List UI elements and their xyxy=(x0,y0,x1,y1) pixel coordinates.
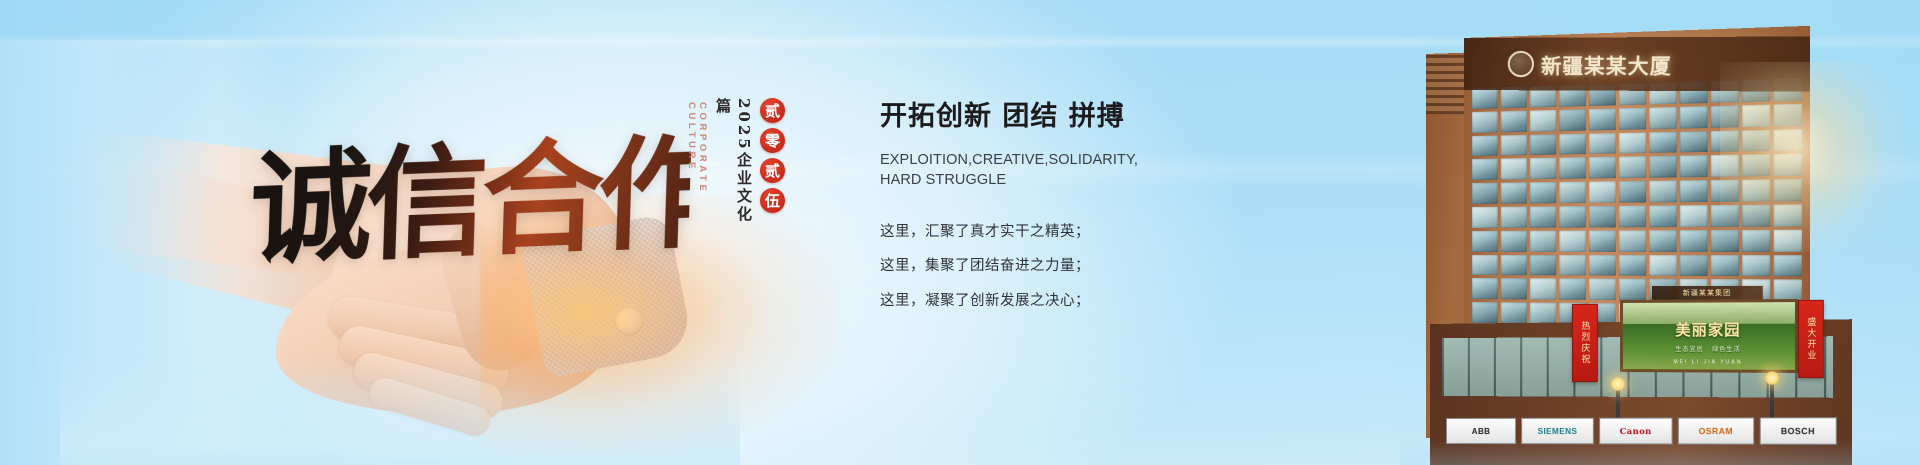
tower-crown-sign: 新疆某某大厦 xyxy=(1464,36,1810,91)
finger-middle xyxy=(336,323,513,398)
body-line: 这里，汇聚了真才实干之精英； xyxy=(880,225,1180,240)
body-line: 这里，凝聚了创新发展之决心； xyxy=(880,294,1180,309)
red-banner-left: 热烈庆祝 xyxy=(1572,304,1598,382)
body-line: 这里，集聚了团结奋进之力量； xyxy=(880,259,1180,274)
corporate-culture-banner: 诚信合作 贰 零 贰 伍 2025企业文化篇 CORPORATE CULTURE… xyxy=(0,0,1920,465)
company-logo-icon xyxy=(1508,51,1534,77)
body-lines: 这里，汇聚了真才实干之精英； 这里，集聚了团结奋进之力量； 这里，凝聚了创新发展… xyxy=(880,225,1180,309)
finger-ring xyxy=(350,349,506,423)
seal-digit-4: 伍 xyxy=(760,188,785,213)
podium-top-sign: 新疆某某集团 xyxy=(1652,286,1763,300)
year-seal-stack: 贰 零 贰 伍 xyxy=(760,96,785,213)
headline-chinese: 开拓创新 团结 拼搏 xyxy=(880,102,1180,132)
shop-sign: ABB xyxy=(1446,418,1516,444)
red-banner-right: 盛大开业 xyxy=(1798,300,1824,378)
shop-sign: Canon xyxy=(1599,418,1673,445)
vertical-label-english: CORPORATE CULTURE xyxy=(686,102,708,258)
podium-top-sign-text: 新疆某某集团 xyxy=(1683,288,1731,298)
billboard-subtitle: 生态宜居 · 绿色生活 xyxy=(1675,344,1740,353)
billboard-caption: MEI LI JIA YUAN xyxy=(1673,359,1742,365)
shop-sign: OSRAM xyxy=(1678,417,1754,444)
cuff-button xyxy=(616,308,642,334)
finger-little xyxy=(366,375,493,440)
crown-sign-text: 新疆某某大厦 xyxy=(1541,49,1672,79)
photo-fade-bottom xyxy=(60,355,740,465)
vertical-label-chinese: 2025企业文化篇 xyxy=(713,98,755,230)
billboard-title: 美丽家园 xyxy=(1675,319,1740,340)
office-tower-photo: 新疆某某大厦 新疆某某集团 美丽家园 生态宜居 · 绿色生活 MEI LI JI… xyxy=(1400,0,1920,465)
tower: 新疆某某大厦 新疆某某集团 美丽家园 生态宜居 · 绿色生活 MEI LI JI… xyxy=(1420,4,1890,465)
seal-digit-3: 贰 xyxy=(760,158,785,183)
shop-sign: SIEMENS xyxy=(1522,418,1594,445)
headline-english: EXPLOITION,CREATIVE,SOLIDARITY, HARD STR… xyxy=(880,150,1120,191)
shop-sign: BOSCH xyxy=(1759,417,1837,445)
billboard-ad: 美丽家园 生态宜居 · 绿色生活 MEI LI JIA YUAN xyxy=(1620,299,1798,373)
vertical-label-column: 贰 零 贰 伍 2025企业文化篇 CORPORATE CULTURE xyxy=(686,96,785,336)
photo-fade-left xyxy=(0,40,290,465)
seal-digit-1: 贰 xyxy=(760,98,785,123)
seal-digit-2: 零 xyxy=(760,128,785,153)
slogan-text-block: 开拓创新 团结 拼搏 EXPLOITION,CREATIVE,SOLIDARIT… xyxy=(880,102,1180,328)
calligraphy-title: 诚信合作 xyxy=(247,87,693,314)
shop-sign-strip: ABB SIEMENS Canon OSRAM BOSCH xyxy=(1446,413,1837,449)
